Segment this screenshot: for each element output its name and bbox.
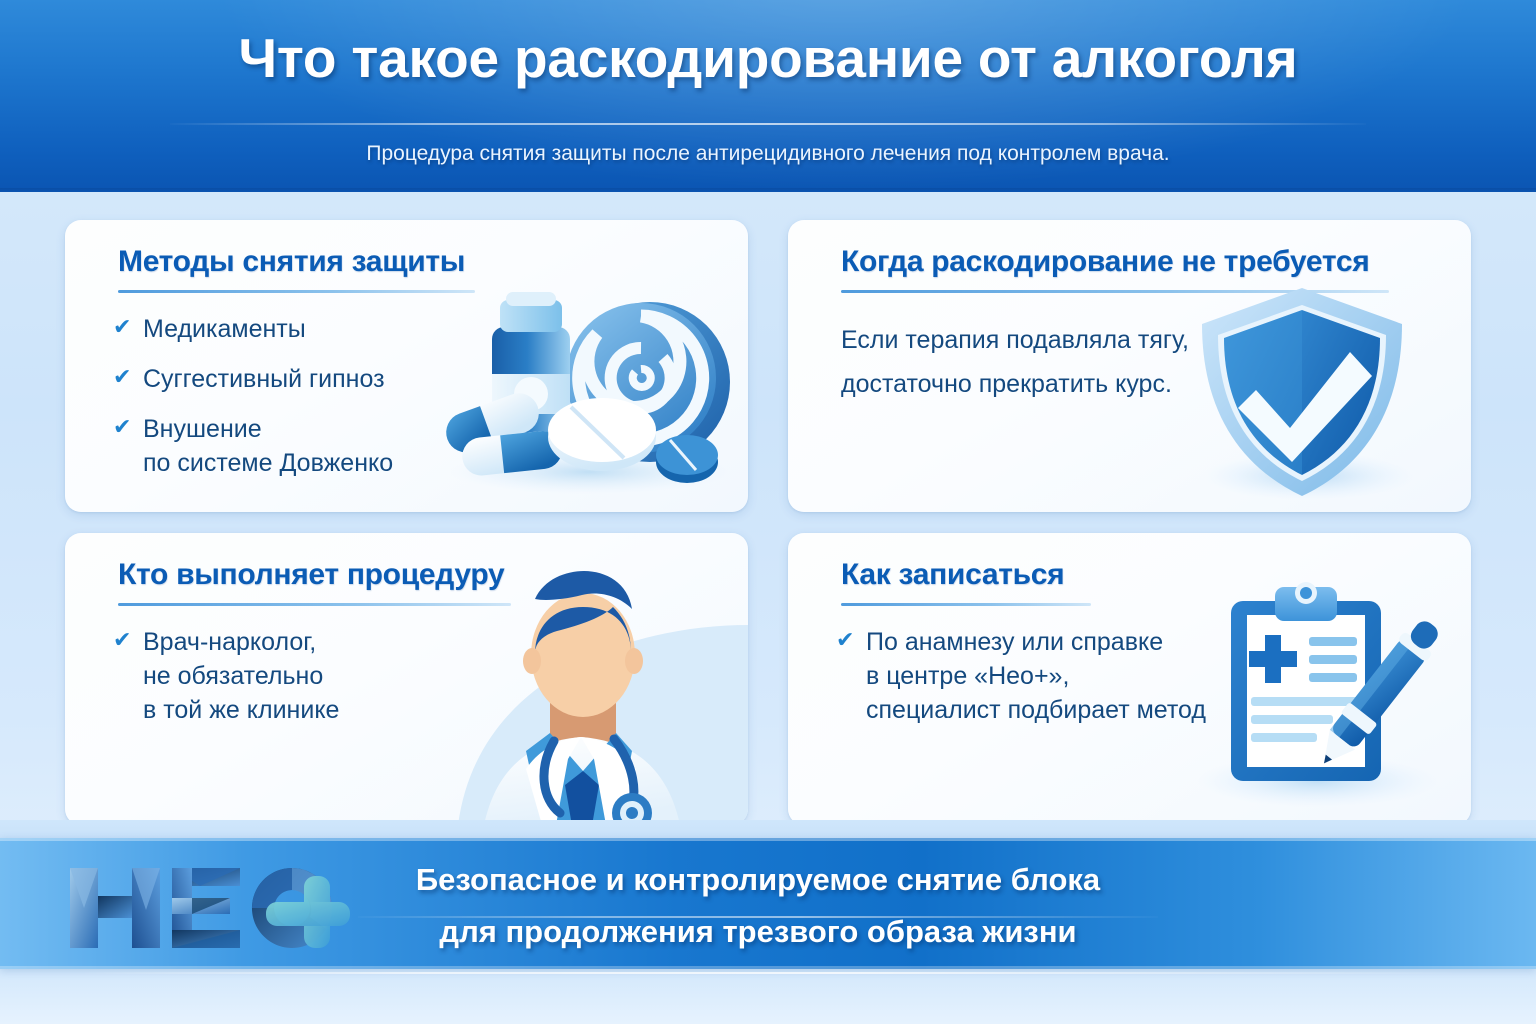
page-title: Что такое раскодирование от алкоголя bbox=[0, 26, 1536, 90]
pills-and-spiral-icon bbox=[434, 282, 734, 497]
card-who-performs: Кто выполняет процедуру ✔ Врач-нарколог,… bbox=[65, 533, 748, 825]
doctor-icon bbox=[418, 555, 748, 825]
card-grid: Методы снятия защиты ✔ Медикаменты ✔ Суг… bbox=[65, 220, 1471, 815]
check-icon: ✔ bbox=[113, 312, 143, 342]
page-subtitle: Процедура снятия защиты после антирециди… bbox=[0, 142, 1536, 166]
check-icon: ✔ bbox=[113, 362, 143, 392]
clipboard-pen-icon bbox=[1189, 581, 1439, 816]
card-methods-divider bbox=[118, 290, 475, 293]
check-icon: ✔ bbox=[113, 412, 143, 442]
card-when-not-needed-text: Если терапия подавляла тягу, достаточно … bbox=[841, 318, 1189, 406]
header-divider bbox=[170, 123, 1366, 125]
page-header: Что такое раскодирование от алкоголя Про… bbox=[0, 0, 1536, 192]
card-how-to-book-title: Как записаться bbox=[841, 558, 1064, 592]
card-when-not-needed-title: Когда раскодирование не требуется bbox=[841, 245, 1370, 279]
list-item: ✔ По анамнезу или справке в центре «Нео+… bbox=[836, 625, 1236, 727]
list-item-label: Медикаменты bbox=[143, 312, 306, 346]
list-item-label: Внушение по системе Довженко bbox=[143, 412, 393, 480]
check-icon: ✔ bbox=[113, 625, 143, 655]
footer-divider bbox=[358, 916, 1158, 918]
card-how-to-book-divider bbox=[841, 603, 1091, 606]
list-item-label: Суггестивный гипноз bbox=[143, 362, 385, 396]
footer-tagline-line2: для продолжения трезвого образа жизни bbox=[358, 906, 1158, 958]
card-how-to-book-bullets: ✔ По анамнезу или справке в центре «Нео+… bbox=[836, 625, 1236, 743]
footer-band: Безопасное и контролируемое снятие блока… bbox=[0, 838, 1536, 969]
footer-bottom-divider bbox=[80, 972, 1460, 974]
footer-tagline-line1: Безопасное и контролируемое снятие блока bbox=[358, 854, 1158, 906]
list-item-label: По анамнезу или справке в центре «Нео+»,… bbox=[866, 625, 1206, 727]
footer-tagline: Безопасное и контролируемое снятие блока… bbox=[358, 854, 1158, 958]
card-when-not-needed: Когда раскодирование не требуется Если т… bbox=[788, 220, 1471, 512]
card-methods: Методы снятия защиты ✔ Медикаменты ✔ Суг… bbox=[65, 220, 748, 512]
shield-check-icon bbox=[1190, 280, 1415, 510]
card-methods-title: Методы снятия защиты bbox=[118, 245, 465, 279]
page-footer: Безопасное и контролируемое снятие блока… bbox=[0, 820, 1536, 1024]
neo-plus-logo bbox=[60, 860, 350, 956]
list-item-label: Врач-нарколог, не обязательно в той же к… bbox=[143, 625, 339, 727]
check-icon: ✔ bbox=[836, 625, 866, 655]
card-how-to-book: Как записаться ✔ По анамнезу или справке… bbox=[788, 533, 1471, 825]
